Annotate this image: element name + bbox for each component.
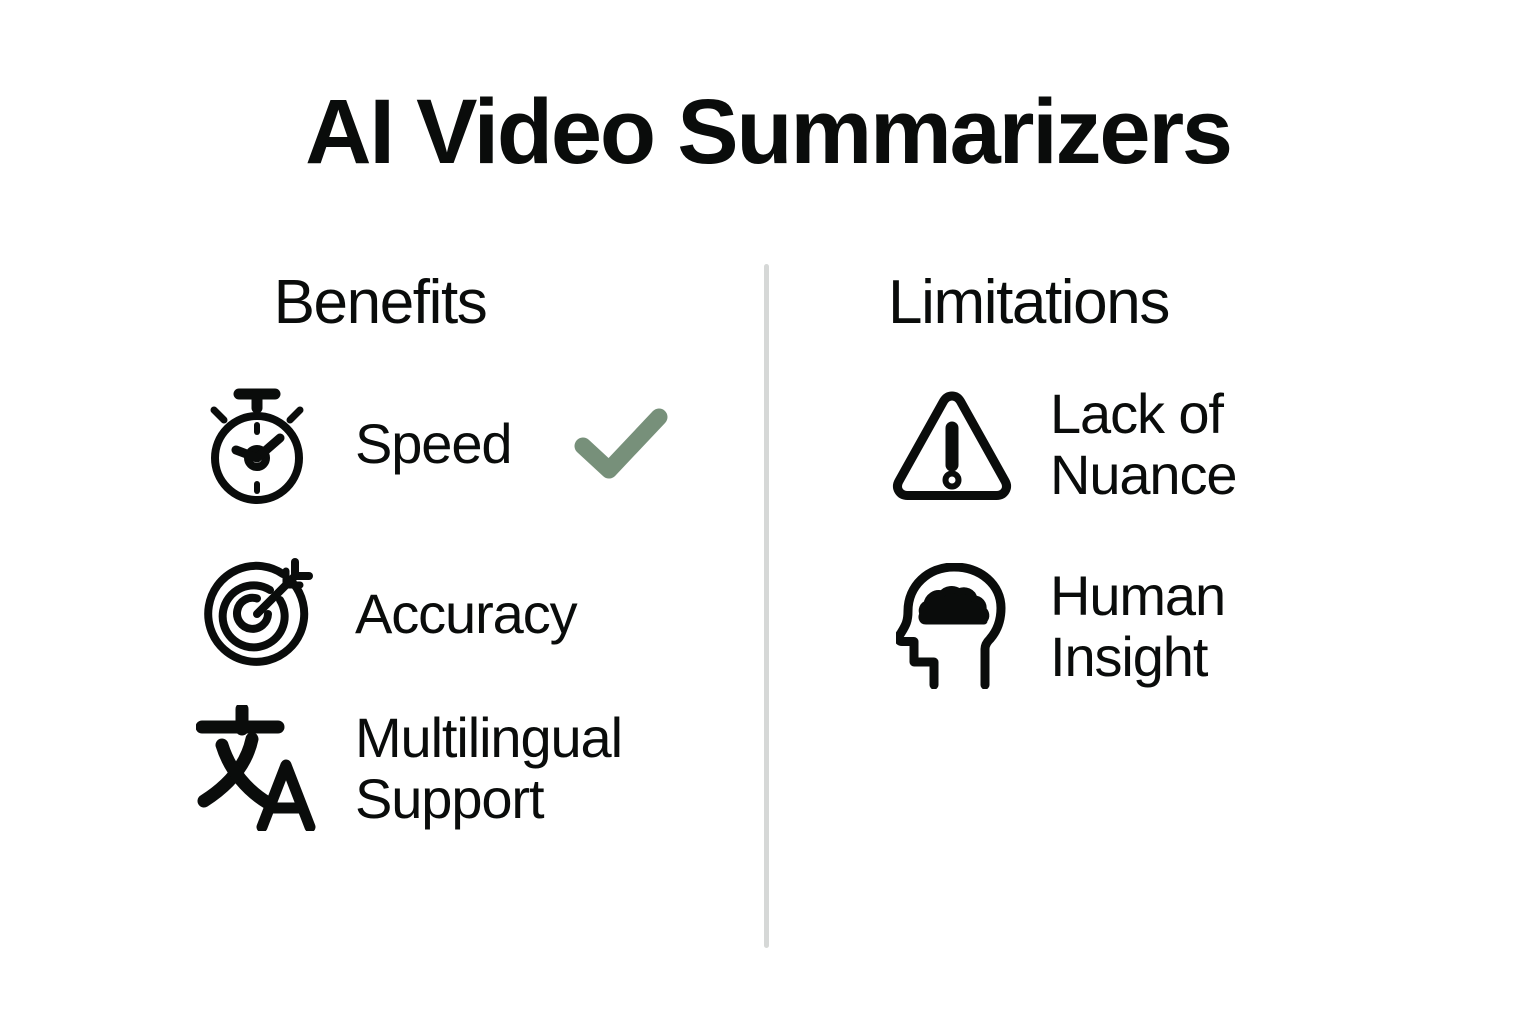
head-brain-icon (890, 564, 1014, 688)
benefits-heading: Benefits (150, 272, 750, 334)
list-item-label: Multilingual Support (355, 707, 622, 829)
list-item-label-line1: Accuracy (355, 583, 577, 644)
limitations-column: Limitations Lack of Nuance (800, 272, 1400, 334)
list-item-label-line2: Insight (1050, 626, 1225, 687)
column-divider (764, 264, 769, 948)
benefits-column: Benefits (150, 272, 750, 334)
list-item[interactable]: Lack of Nuance (800, 382, 1400, 506)
list-item-label: Speed (355, 413, 511, 474)
list-item-label: Human Insight (1050, 565, 1225, 687)
limitations-heading: Limitations (800, 272, 1400, 334)
list-item-label-line1: Lack of (1050, 383, 1236, 444)
list-item[interactable]: Multilingual Support (150, 706, 750, 830)
benefits-list: Speed (150, 382, 750, 830)
target-icon (195, 552, 319, 676)
list-item-label: Lack of Nuance (1050, 383, 1236, 505)
limitations-list: Lack of Nuance Human Insight (800, 382, 1400, 688)
translate-icon (195, 706, 319, 830)
check-icon (573, 406, 669, 482)
list-item-label-line1: Multilingual (355, 707, 622, 768)
list-item[interactable]: Accuracy (150, 552, 750, 676)
list-item-label-line2: Support (355, 768, 622, 829)
list-item[interactable]: Human Insight (800, 564, 1400, 688)
warning-triangle-icon (890, 382, 1014, 506)
infographic-canvas: AI Video Summarizers Benefits (0, 0, 1536, 1024)
stopwatch-icon (195, 382, 319, 506)
list-item-label-line1: Human (1050, 565, 1225, 626)
list-item-label-line2: Nuance (1050, 444, 1236, 505)
list-item-label: Accuracy (355, 583, 577, 644)
page-title: AI Video Summarizers (0, 84, 1536, 181)
list-item[interactable]: Speed (150, 382, 750, 506)
list-item-label-line1: Speed (355, 413, 511, 474)
